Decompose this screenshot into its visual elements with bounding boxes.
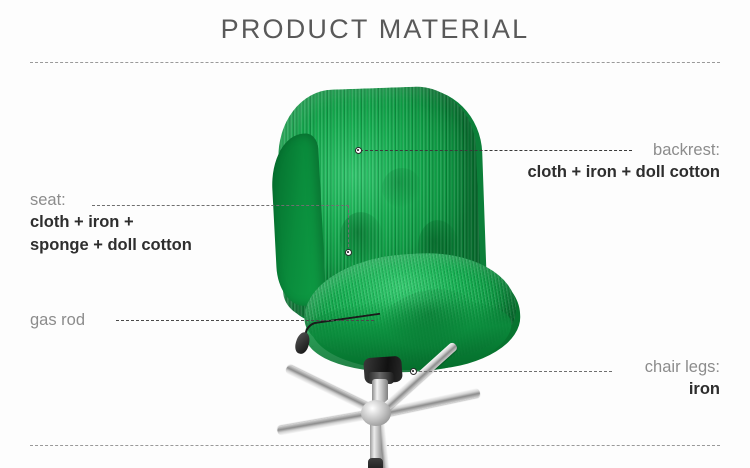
callout-chair-legs-label: chair legs: — [520, 357, 720, 378]
base-hub — [361, 400, 391, 426]
callout-seat-value-line2: sponge + doll cotton — [30, 234, 230, 257]
callout-gas-rod: gas rod — [30, 310, 150, 331]
product-material-infographic: PRODUCT MATERIAL — [0, 0, 750, 468]
callout-chair-legs-value: iron — [520, 378, 720, 401]
callout-backrest: backrest: cloth + iron + doll cotton — [498, 140, 720, 184]
marker-dot-chair-legs — [410, 368, 417, 375]
leader-line-gas-rod — [116, 320, 374, 321]
marker-dot-backrest — [355, 147, 362, 154]
callout-backrest-value: cloth + iron + doll cotton — [498, 161, 720, 184]
base-center-foot — [368, 458, 383, 468]
page-title: PRODUCT MATERIAL — [0, 14, 750, 45]
leader-line-seat-vertical — [348, 205, 349, 252]
product-image-chair — [232, 82, 522, 412]
callout-seat: seat: cloth + iron + sponge + doll cotto… — [30, 190, 230, 257]
callout-gas-rod-label: gas rod — [30, 310, 150, 331]
callout-chair-legs: chair legs: iron — [520, 357, 720, 401]
backrest-tuft-top — [382, 168, 422, 208]
divider-top — [30, 62, 720, 63]
backrest-side-wing — [270, 133, 327, 307]
callout-seat-value-line1: cloth + iron + — [30, 211, 230, 234]
callout-backrest-label: backrest: — [498, 140, 720, 161]
marker-dot-seat — [345, 249, 352, 256]
callout-seat-label: seat: — [30, 190, 230, 211]
